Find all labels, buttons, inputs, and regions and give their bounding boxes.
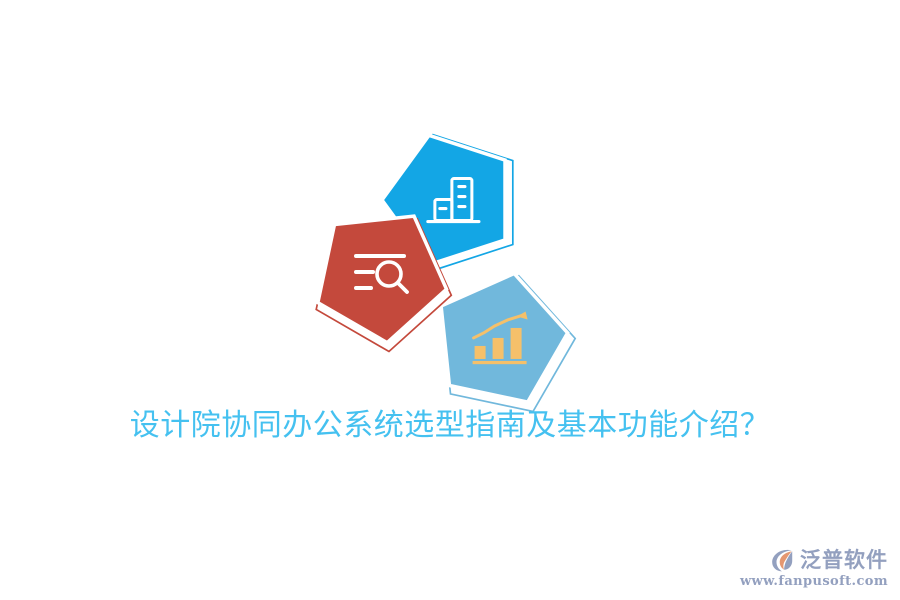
watermark-url-text: www.fanpusoft.com — [740, 574, 888, 590]
page-title: 设计院协同办公系统选型指南及基本功能介绍？ — [0, 406, 900, 446]
pentagon-cluster-graphic — [295, 115, 595, 390]
watermark: 泛普软件 www.fanpusoft.com — [748, 534, 888, 590]
watermark-brand-text: 泛普软件 — [800, 548, 888, 572]
fanpu-logo-icon — [770, 547, 796, 573]
slide-canvas: 设计院协同办公系统选型指南及基本功能介绍？ 泛普软件 www.fanpusoft… — [0, 0, 900, 600]
growth-chart-pentagon — [424, 260, 586, 417]
growth-chart-pentagon-fill — [425, 260, 577, 407]
watermark-brand-row: 泛普软件 — [770, 547, 888, 573]
